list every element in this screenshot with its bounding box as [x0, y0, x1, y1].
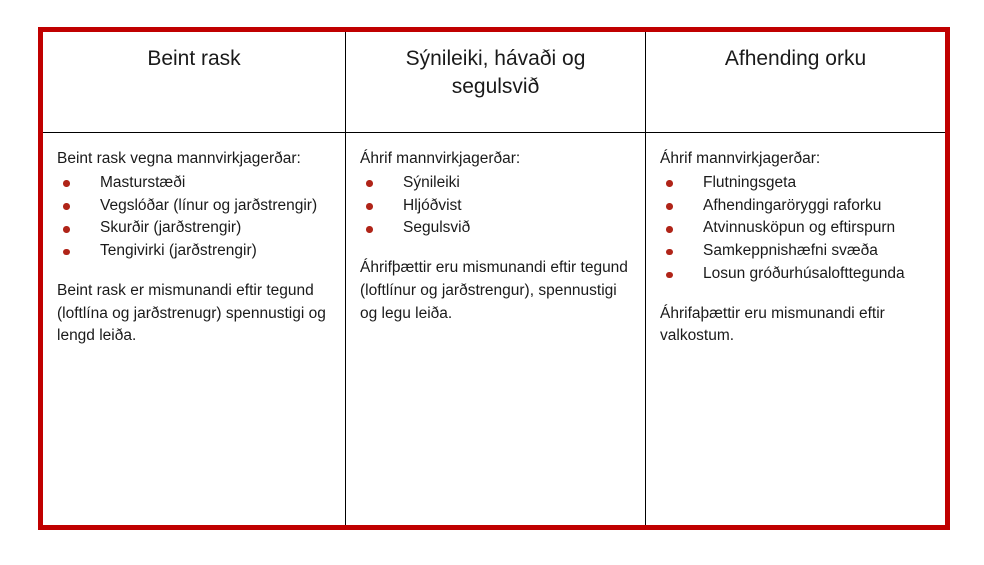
- bullet-dot-icon: [63, 249, 70, 256]
- bullet-label: Atvinnusköpun og eftirspurn: [703, 219, 895, 236]
- bullet-label: Masturstæði: [100, 174, 185, 191]
- cell-intro-text-2: Áhrif mannvirkjagerðar:: [360, 148, 629, 171]
- bullet-label: Hljóðvist: [403, 197, 462, 214]
- bullet-dot-icon: [63, 203, 70, 210]
- list-item: Masturstæði: [57, 172, 329, 195]
- table-body: Beint rask vegna mannvirkjagerðar: Mastu…: [41, 133, 948, 528]
- bullet-list-1: Masturstæði Vegslóðar (línur og jarðstre…: [57, 172, 329, 263]
- impact-factors-table: Beint rask Sýnileiki, hávaði og segulsvi…: [38, 27, 950, 530]
- table-header-row-group: Beint rask Sýnileiki, hávaði og segulsvi…: [41, 30, 948, 133]
- bullet-dot-icon: [63, 226, 70, 233]
- cell-intro-text-1: Beint rask vegna mannvirkjagerðar:: [57, 148, 329, 171]
- page-canvas: Beint rask Sýnileiki, hávaði og segulsvi…: [0, 0, 984, 565]
- column-header-title-3: Afhending orku: [646, 32, 945, 73]
- bullet-dot-icon: [366, 203, 373, 210]
- column-header-cell-3: Afhending orku: [646, 30, 948, 133]
- column-header-cell-2: Sýnileiki, hávaði og segulsvið: [346, 30, 646, 133]
- bullet-label: Skurðir (jarðstrengir): [100, 219, 241, 236]
- bullet-label: Segulsvið: [403, 219, 470, 236]
- bullet-label: Afhendingaröryggi raforku: [703, 197, 881, 214]
- cell-outro-text-2: Áhrifþættir eru mismunandi eftir tegund …: [360, 257, 629, 325]
- bullet-list-2: Sýnileiki Hljóðvist Segulsvið: [360, 172, 629, 240]
- column-header-title-1: Beint rask: [43, 32, 345, 73]
- bullet-dot-icon: [666, 272, 673, 279]
- table-header-row: Beint rask Sýnileiki, hávaði og segulsvi…: [41, 30, 948, 133]
- bullet-dot-icon: [666, 203, 673, 210]
- bullet-dot-icon: [666, 249, 673, 256]
- bullet-dot-icon: [366, 180, 373, 187]
- bullet-list-3: Flutningsgeta Afhendingaröryggi raforku …: [660, 172, 929, 286]
- cell-content-2: Áhrif mannvirkjagerðar: Sýnileiki Hljóðv…: [346, 133, 645, 339]
- list-item: Vegslóðar (línur og jarðstrengir): [57, 195, 329, 218]
- cell-outro-text-1: Beint rask er mismunandi eftir tegund (l…: [57, 280, 329, 348]
- bullet-dot-icon: [666, 180, 673, 187]
- bullet-label: Samkeppnishæfni svæða: [703, 242, 878, 259]
- bullet-dot-icon: [666, 226, 673, 233]
- bullet-dot-icon: [63, 180, 70, 187]
- bullet-label: Flutningsgeta: [703, 174, 796, 191]
- list-item: Atvinnusköpun og eftirspurn: [660, 217, 929, 240]
- bullet-label: Vegslóðar (línur og jarðstrengir): [100, 197, 317, 214]
- list-item: Losun gróðurhúsalofttegunda: [660, 263, 929, 286]
- list-item: Hljóðvist: [360, 195, 629, 218]
- bullet-label: Tengivirki (jarðstrengir): [100, 242, 257, 259]
- cell-content-1: Beint rask vegna mannvirkjagerðar: Mastu…: [43, 133, 345, 362]
- cell-outro-text-3: Áhrifaþættir eru mismunandi eftir valkos…: [660, 303, 929, 349]
- column-header-title-2: Sýnileiki, hávaði og segulsvið: [346, 32, 645, 100]
- list-item: Tengivirki (jarðstrengir): [57, 240, 329, 263]
- list-item: Samkeppnishæfni svæða: [660, 240, 929, 263]
- table-cell-afhending-orku: Áhrif mannvirkjagerðar: Flutningsgeta Af…: [646, 133, 948, 528]
- cell-intro-text-3: Áhrif mannvirkjagerðar:: [660, 148, 929, 171]
- table-cell-beint-rask: Beint rask vegna mannvirkjagerðar: Mastu…: [41, 133, 346, 528]
- list-item: Afhendingaröryggi raforku: [660, 195, 929, 218]
- list-item: Flutningsgeta: [660, 172, 929, 195]
- column-header-cell-1: Beint rask: [41, 30, 346, 133]
- table-cell-synileiki-havadi-segulsvid: Áhrif mannvirkjagerðar: Sýnileiki Hljóðv…: [346, 133, 646, 528]
- bullet-dot-icon: [366, 226, 373, 233]
- cell-content-3: Áhrif mannvirkjagerðar: Flutningsgeta Af…: [646, 133, 945, 362]
- table-row: Beint rask vegna mannvirkjagerðar: Mastu…: [41, 133, 948, 528]
- list-item: Segulsvið: [360, 217, 629, 240]
- list-item: Sýnileiki: [360, 172, 629, 195]
- list-item: Skurðir (jarðstrengir): [57, 217, 329, 240]
- bullet-label: Sýnileiki: [403, 174, 460, 191]
- bullet-label: Losun gróðurhúsalofttegunda: [703, 265, 905, 282]
